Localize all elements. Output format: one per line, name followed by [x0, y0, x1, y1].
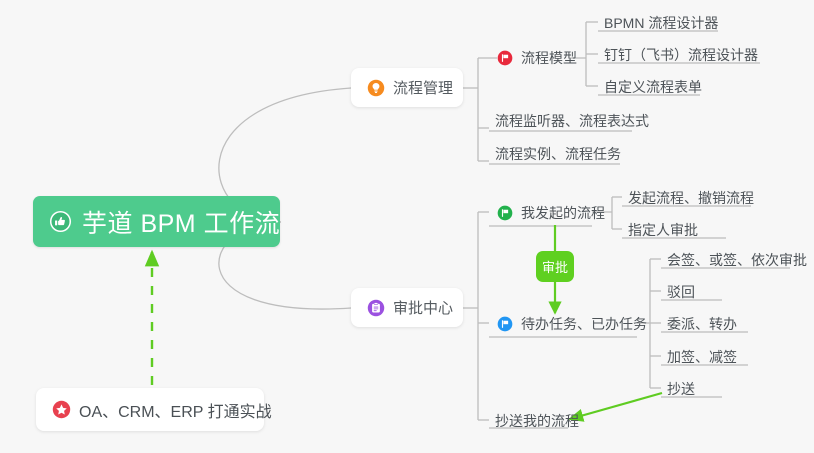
- node-listener-expression-label: 流程监听器、流程表达式: [495, 111, 649, 131]
- node-process-management-label: 流程管理: [393, 77, 453, 98]
- flag-icon-red: [497, 50, 513, 66]
- node-multi-sign[interactable]: 会签、或签、依次审批: [661, 245, 813, 275]
- approval-badge-label: 审批: [542, 257, 568, 276]
- node-delegate-transfer-label: 委派、转办: [667, 314, 737, 334]
- flag-icon-green: [497, 205, 513, 221]
- node-my-initiated[interactable]: 我发起的流程: [491, 198, 611, 228]
- node-process-management[interactable]: 流程管理: [351, 68, 463, 107]
- node-reject-label: 驳回: [667, 282, 695, 302]
- node-process-model[interactable]: 流程模型: [491, 43, 583, 73]
- node-instance-task[interactable]: 流程实例、流程任务: [489, 139, 627, 169]
- lightbulb-icon: [367, 79, 385, 97]
- mindmap-canvas: 芋道 BPM 工作流 流程管理 流程模型 BPMN 流程设计器 钉钉（飞书）流程: [0, 0, 814, 453]
- node-todo-done-label: 待办任务、已办任务: [521, 314, 647, 334]
- node-delegate-transfer[interactable]: 委派、转办: [661, 309, 743, 339]
- node-bpmn-designer[interactable]: BPMN 流程设计器: [598, 8, 724, 38]
- thumbs-up-icon: [49, 210, 72, 233]
- node-cc-to-me-label: 抄送我的流程: [495, 411, 579, 431]
- node-add-remove-sign-label: 加签、减签: [667, 347, 737, 367]
- star-icon: [52, 400, 71, 419]
- node-start-cancel[interactable]: 发起流程、撤销流程: [622, 183, 760, 213]
- node-todo-done[interactable]: 待办任务、已办任务: [491, 309, 653, 339]
- node-instance-task-label: 流程实例、流程任务: [495, 144, 621, 164]
- node-reject[interactable]: 驳回: [661, 277, 701, 307]
- node-assigned-approval-label: 指定人审批: [628, 220, 698, 240]
- node-bpmn-designer-label: BPMN 流程设计器: [604, 13, 718, 33]
- node-listener-expression[interactable]: 流程监听器、流程表达式: [489, 106, 655, 136]
- node-approval-center-label: 审批中心: [393, 297, 453, 318]
- node-my-initiated-label: 我发起的流程: [521, 203, 605, 223]
- footer-label: OA、CRM、ERP 打通实战: [79, 398, 272, 422]
- node-process-model-label: 流程模型: [521, 48, 577, 68]
- node-dingtalk-feishu-designer[interactable]: 钉钉（飞书）流程设计器: [598, 40, 764, 70]
- clipboard-icon: [367, 299, 385, 317]
- node-start-cancel-label: 发起流程、撤销流程: [628, 188, 754, 208]
- node-custom-process-form-label: 自定义流程表单: [604, 77, 702, 97]
- root-label: 芋道 BPM 工作流: [82, 204, 280, 240]
- footer-node[interactable]: OA、CRM、ERP 打通实战: [36, 388, 264, 431]
- node-cc[interactable]: 抄送: [661, 374, 701, 404]
- node-custom-process-form[interactable]: 自定义流程表单: [598, 72, 708, 102]
- node-approval-center[interactable]: 审批中心: [351, 288, 463, 327]
- node-cc-label: 抄送: [667, 379, 695, 399]
- node-dingtalk-feishu-designer-label: 钉钉（飞书）流程设计器: [604, 45, 758, 65]
- approval-badge: 审批: [536, 251, 574, 282]
- node-multi-sign-label: 会签、或签、依次审批: [667, 250, 807, 270]
- node-cc-to-me[interactable]: 抄送我的流程: [489, 406, 585, 436]
- node-add-remove-sign[interactable]: 加签、减签: [661, 342, 743, 372]
- root-node[interactable]: 芋道 BPM 工作流: [33, 196, 280, 247]
- node-assigned-approval[interactable]: 指定人审批: [622, 215, 704, 245]
- flag-icon-blue: [497, 316, 513, 332]
